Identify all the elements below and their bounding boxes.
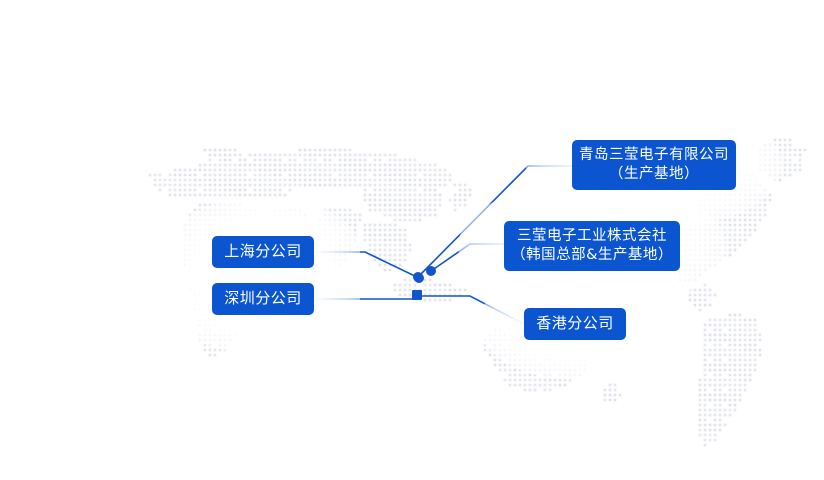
connector-hongkong [417, 296, 524, 324]
marker-hongkong[interactable] [413, 292, 421, 300]
label-korea-headquarters-line-2: （韩国总部&生产基地） [511, 246, 673, 265]
connector-korea [431, 244, 504, 271]
connector-lines [0, 0, 824, 480]
connector-shanghai [314, 252, 419, 278]
label-shenzhen-branch[interactable]: 深圳分公司 [212, 283, 314, 315]
label-hongkong-branch[interactable]: 香港分公司 [524, 308, 626, 340]
label-shanghai-branch-line-1: 上海分公司 [224, 242, 302, 261]
label-qingdao[interactable]: 青岛三莹电子有限公司（生产基地） [572, 140, 736, 190]
label-shanghai-branch[interactable]: 上海分公司 [212, 236, 314, 268]
label-korea-headquarters[interactable]: 三莹电子工业株式会社（韩国总部&生产基地） [504, 221, 680, 271]
label-qingdao-line-2: （生产基地） [609, 165, 699, 184]
label-shenzhen-branch-line-1: 深圳分公司 [224, 289, 302, 308]
map-diagram: 青岛三莹电子有限公司（生产基地）三莹电子工业株式会社（韩国总部&生产基地）上海分… [0, 0, 824, 480]
label-korea-headquarters-line-1: 三莹电子工业株式会社 [517, 227, 667, 246]
label-qingdao-line-1: 青岛三莹电子有限公司 [579, 146, 729, 165]
label-hongkong-branch-line-1: 香港分公司 [536, 314, 614, 333]
marker-korea[interactable] [426, 266, 436, 276]
marker-shanghai[interactable] [414, 273, 424, 283]
